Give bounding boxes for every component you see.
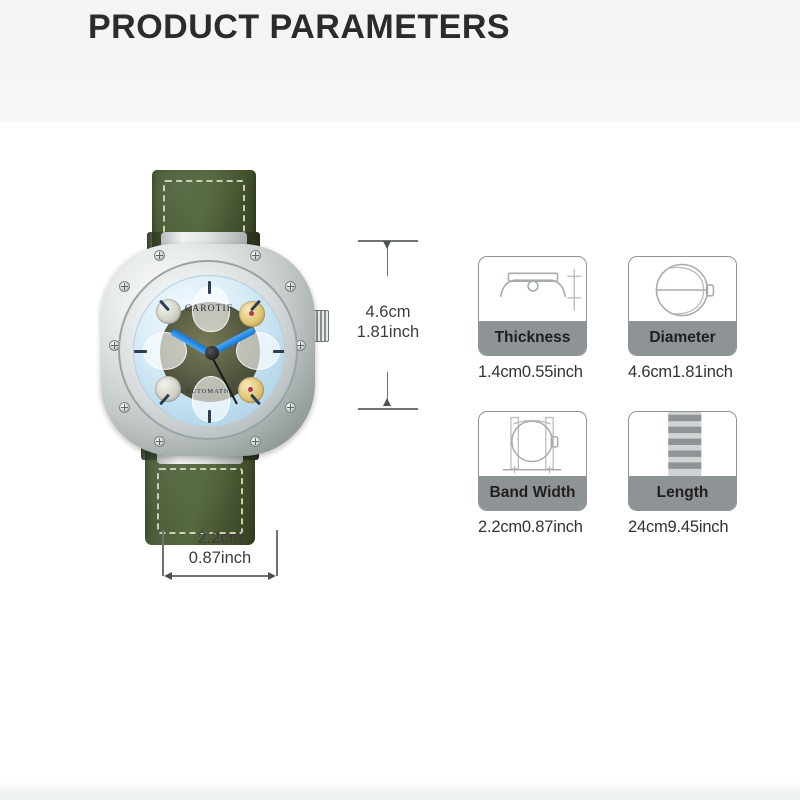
dim-arrow-down-icon bbox=[383, 241, 391, 249]
hour-marker bbox=[134, 350, 147, 353]
spec-card-value: 4.6cm1.81inch bbox=[628, 363, 763, 382]
dim-arrow-right-icon bbox=[268, 572, 276, 580]
hour-marker bbox=[208, 281, 211, 294]
case-diameter-callout: 4.6cm 1.81inch bbox=[340, 240, 436, 410]
dim-arrow-left-icon bbox=[164, 572, 172, 580]
dim-extension-line-left bbox=[162, 530, 164, 576]
callout-value-horizontal: 2.2cm 0.87inch bbox=[160, 528, 280, 568]
spec-card-value: 1.4cm0.55inch bbox=[478, 363, 613, 382]
product-photo: CAROTIF AUTOMATIC bbox=[95, 170, 330, 590]
spec-card-thickness[interactable]: Thickness 1.4cm0.55inch bbox=[478, 256, 613, 382]
spec-card-grid: Thickness 1.4cm0.55inch Diameter 4.6cm1.… bbox=[478, 256, 778, 556]
watch-side-profile-icon bbox=[479, 257, 586, 323]
hands-center-cap bbox=[205, 346, 219, 360]
spec-card-band-width[interactable]: Band Width 2.2cm0.87inch bbox=[478, 411, 613, 537]
page-title: PRODUCT PARAMETERS bbox=[88, 8, 510, 47]
dim-extension-line-bottom bbox=[358, 408, 418, 410]
hour-marker bbox=[208, 410, 211, 423]
callout-value-inch: 1.81inch bbox=[340, 322, 436, 342]
spec-card-value: 2.2cm0.87inch bbox=[478, 518, 613, 537]
bezel-screw-icon bbox=[119, 281, 130, 292]
watch-case-circle-icon bbox=[629, 257, 736, 323]
spec-card-value: 24cm9.45inch bbox=[628, 518, 763, 537]
callout-value-cm: 4.6cm bbox=[340, 302, 436, 322]
spec-card-length[interactable]: Length 24cm9.45inch bbox=[628, 411, 763, 537]
dim-arrow-up-icon bbox=[383, 398, 391, 406]
footer-band bbox=[0, 783, 800, 800]
spec-card-label: Band Width bbox=[479, 476, 586, 510]
strap-stitching-lower bbox=[157, 468, 243, 534]
hour-marker bbox=[273, 350, 285, 353]
bezel-screw-icon bbox=[285, 402, 296, 413]
callout-value-inch: 0.87inch bbox=[160, 548, 280, 568]
callout-value-cm: 2.2cm bbox=[160, 528, 280, 548]
bezel-screw-icon bbox=[285, 281, 296, 292]
spec-card-diameter[interactable]: Diameter 4.6cm1.81inch bbox=[628, 256, 763, 382]
callout-value-vertical: 4.6cm 1.81inch bbox=[340, 302, 436, 342]
watch-band-width-icon bbox=[479, 412, 586, 478]
watch-bezel: CAROTIF AUTOMATIC bbox=[118, 260, 298, 440]
spec-card-label: Length bbox=[629, 476, 736, 510]
dial-automatic-text: AUTOMATIC bbox=[134, 388, 284, 395]
bezel-screw-icon bbox=[154, 250, 165, 261]
spec-card-label: Thickness bbox=[479, 321, 586, 355]
spec-card-label: Diameter bbox=[629, 321, 736, 355]
bezel-screw-icon bbox=[119, 402, 130, 413]
strap-stitching-upper bbox=[163, 180, 245, 236]
spec-card-frame: Band Width bbox=[478, 411, 587, 511]
watch-dial: CAROTIF AUTOMATIC bbox=[133, 275, 285, 427]
spec-card-frame: Thickness bbox=[478, 256, 587, 356]
dial-brand-text: CAROTIF bbox=[134, 304, 284, 314]
bezel-screw-icon bbox=[250, 436, 261, 447]
dim-extension-line-right bbox=[276, 530, 278, 576]
dim-measure-line bbox=[168, 575, 272, 577]
watch-case: CAROTIF AUTOMATIC bbox=[101, 244, 315, 456]
bezel-screw-icon bbox=[154, 436, 165, 447]
bezel-screw-icon bbox=[250, 250, 261, 261]
band-width-callout: 2.2cm 0.87inch bbox=[160, 528, 280, 586]
watch-strap-length-icon bbox=[629, 412, 736, 478]
spec-card-frame: Diameter bbox=[628, 256, 737, 356]
spec-card-frame: Length bbox=[628, 411, 737, 511]
